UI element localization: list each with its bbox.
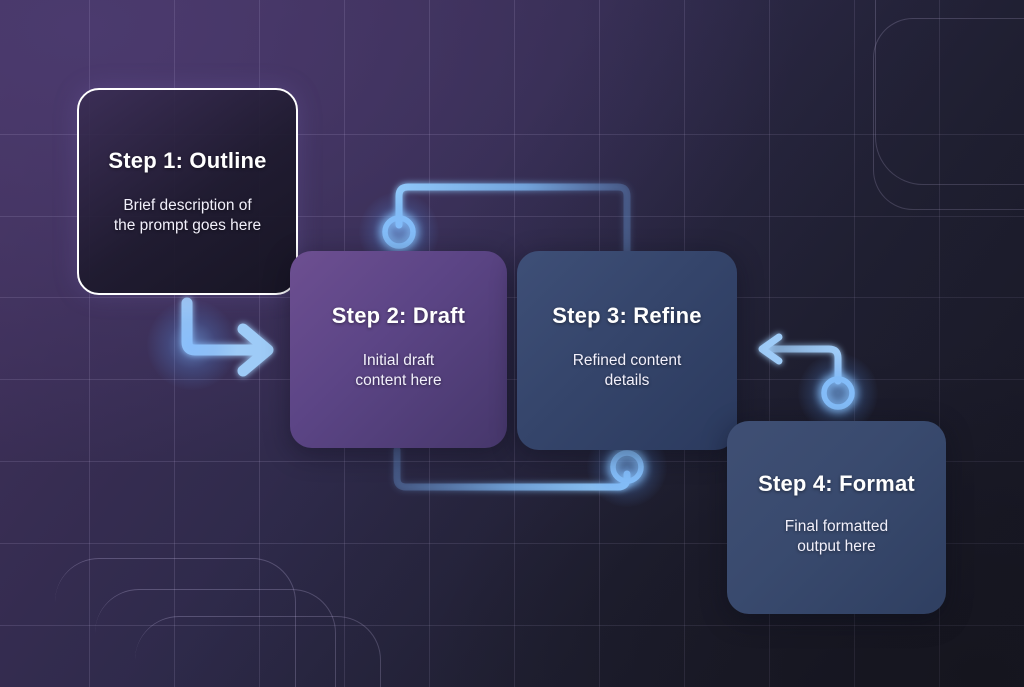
card-step-3-description: Refined content details bbox=[573, 351, 682, 392]
card-step-3-description-line1: Refined content bbox=[573, 352, 682, 369]
link-node-top bbox=[385, 187, 627, 252]
card-step-3[interactable]: Step 3: Refine Refined content details bbox=[517, 251, 737, 450]
card-step-1[interactable]: Step 1: Outline Brief description of the… bbox=[77, 88, 298, 295]
card-step-4-title: Step 4: Format bbox=[758, 471, 915, 497]
connector-node-top-ring bbox=[385, 218, 413, 246]
connector-node-right-ring bbox=[824, 379, 852, 407]
connector-node-bottom-ring bbox=[613, 453, 641, 481]
card-step-2-title: Step 2: Draft bbox=[332, 303, 465, 329]
arrow-step4-to-step3 bbox=[762, 337, 852, 407]
corner-trace-bottom-left-1 bbox=[55, 558, 296, 687]
link-node-bottom bbox=[397, 450, 641, 487]
arrow-step1-to-step2 bbox=[187, 303, 268, 371]
card-step-3-description-line2: details bbox=[605, 372, 650, 389]
card-step-1-description: Brief description of the prompt goes her… bbox=[114, 196, 261, 237]
corner-trace-top-right-inner bbox=[875, 0, 1024, 185]
card-step-1-title: Step 1: Outline bbox=[108, 148, 266, 174]
card-step-2-description: Initial draft content here bbox=[355, 351, 441, 392]
card-step-2-description-line1: Initial draft bbox=[363, 352, 435, 369]
card-step-3-title: Step 3: Refine bbox=[552, 303, 702, 329]
card-step-1-description-line2: the prompt goes here bbox=[114, 217, 261, 234]
card-step-4-description: Final formatted output here bbox=[785, 517, 888, 558]
card-step-2-description-line2: content here bbox=[355, 372, 441, 389]
card-step-4[interactable]: Step 4: Format Final formatted output he… bbox=[727, 421, 946, 614]
diagram-canvas: Step 1: Outline Brief description of the… bbox=[0, 0, 1024, 687]
card-step-4-description-line2: output here bbox=[797, 538, 875, 555]
corner-trace-top-right-outer bbox=[873, 18, 1024, 210]
card-step-2[interactable]: Step 2: Draft Initial draft content here bbox=[290, 251, 507, 448]
corner-trace-bottom-left-3 bbox=[135, 616, 381, 687]
card-step-1-description-line1: Brief description of bbox=[123, 197, 251, 214]
corner-trace-bottom-left-2 bbox=[95, 589, 336, 687]
card-step-4-description-line1: Final formatted bbox=[785, 518, 888, 535]
arrow-glow-step1 bbox=[147, 300, 237, 390]
